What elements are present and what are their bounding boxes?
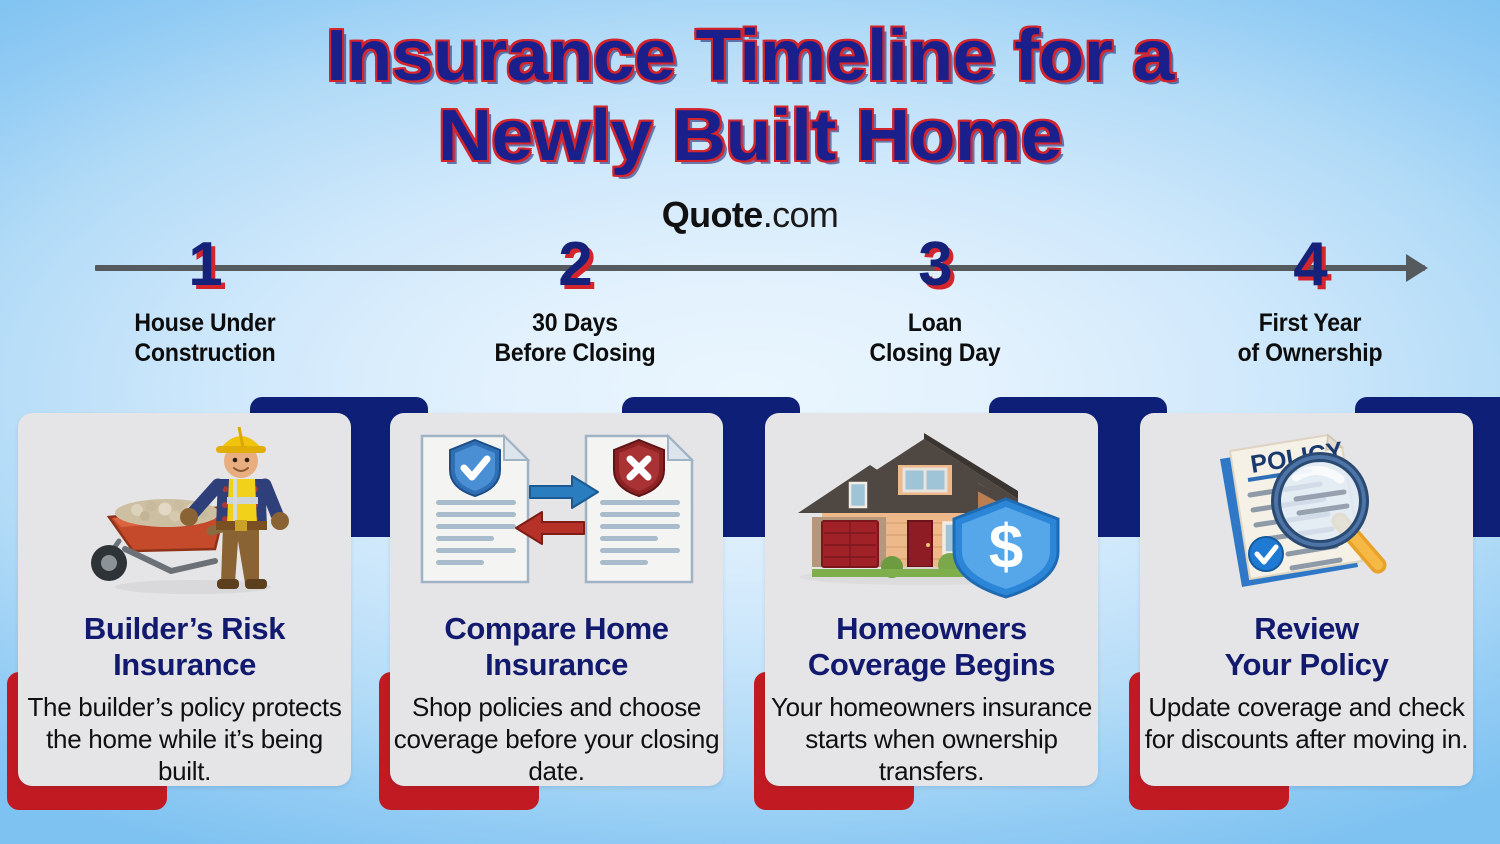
card-title: Builder’s Risk Insurance	[26, 611, 343, 683]
card-body-text: Shop policies and choose coverage before…	[392, 691, 721, 786]
house-dollar-shield-icon: $	[765, 413, 1098, 609]
card-title: Homeowners Coverage Begins	[773, 611, 1090, 683]
compare-documents-shields-icon	[390, 413, 723, 609]
card-title-line-1: Review	[1148, 611, 1465, 647]
step-card-homeowners-coverage[interactable]: $ Homeowners Coverage Begins Your homeow…	[765, 413, 1098, 786]
timeline-step-1: 1 House Under Construction	[95, 228, 315, 368]
title-line-1: Insurance Timeline for a	[0, 16, 1500, 96]
card-title-line-2: Insurance	[398, 647, 715, 683]
step-number: 2	[465, 228, 685, 302]
card-title-line-2: Your Policy	[1148, 647, 1465, 683]
step-card-builders-risk[interactable]: Builder’s Risk Insurance The builder’s p…	[18, 413, 351, 786]
step-label-line-2: Construction	[104, 338, 306, 368]
step-label-line-1: Loan	[834, 308, 1036, 338]
step-number: 1	[95, 228, 315, 302]
step-label-line-1: First Year	[1209, 308, 1411, 338]
card-title: Compare Home Insurance	[398, 611, 715, 683]
svg-text:$: $	[988, 513, 1022, 582]
card-title-line-1: Homeowners	[773, 611, 1090, 647]
infographic-poster: Insurance Timeline for a Newly Built Hom…	[0, 0, 1500, 844]
policy-magnifier-icon: POLICY	[1140, 413, 1473, 609]
step-card-review-your-policy[interactable]: POLICY	[1140, 413, 1473, 786]
card-body-text: Your homeowners insurance starts when ow…	[767, 691, 1096, 786]
step-label-line-2: Before Closing	[474, 338, 676, 368]
card-title-line-1: Compare Home	[398, 611, 715, 647]
card-body-text: The builder’s policy protects the home w…	[20, 691, 349, 786]
card-title-line-1: Builder’s Risk	[26, 611, 343, 647]
card-title: Review Your Policy	[1148, 611, 1465, 683]
step-label-line-2: of Ownership	[1209, 338, 1411, 368]
step-label-line-1: 30 Days	[474, 308, 676, 338]
card-title-line-2: Insurance	[26, 647, 343, 683]
construction-worker-wheelbarrow-icon	[18, 413, 351, 609]
timeline-step-2: 2 30 Days Before Closing	[465, 228, 685, 368]
step-number: 3	[825, 228, 1045, 302]
poster-title: Insurance Timeline for a Newly Built Hom…	[0, 16, 1500, 176]
card-body-text: Update coverage and check for discounts …	[1142, 691, 1471, 755]
step-label-line-1: House Under	[104, 308, 306, 338]
card-title-line-2: Coverage Begins	[773, 647, 1090, 683]
timeline-step-4: 4 First Year of Ownership	[1200, 228, 1420, 368]
title-line-2: Newly Built Home	[0, 96, 1500, 176]
timeline-step-3: 3 Loan Closing Day	[825, 228, 1045, 368]
step-label-line-2: Closing Day	[834, 338, 1036, 368]
step-number: 4	[1200, 228, 1420, 302]
step-card-compare-home-insurance[interactable]: Compare Home Insurance Shop policies and…	[390, 413, 723, 786]
